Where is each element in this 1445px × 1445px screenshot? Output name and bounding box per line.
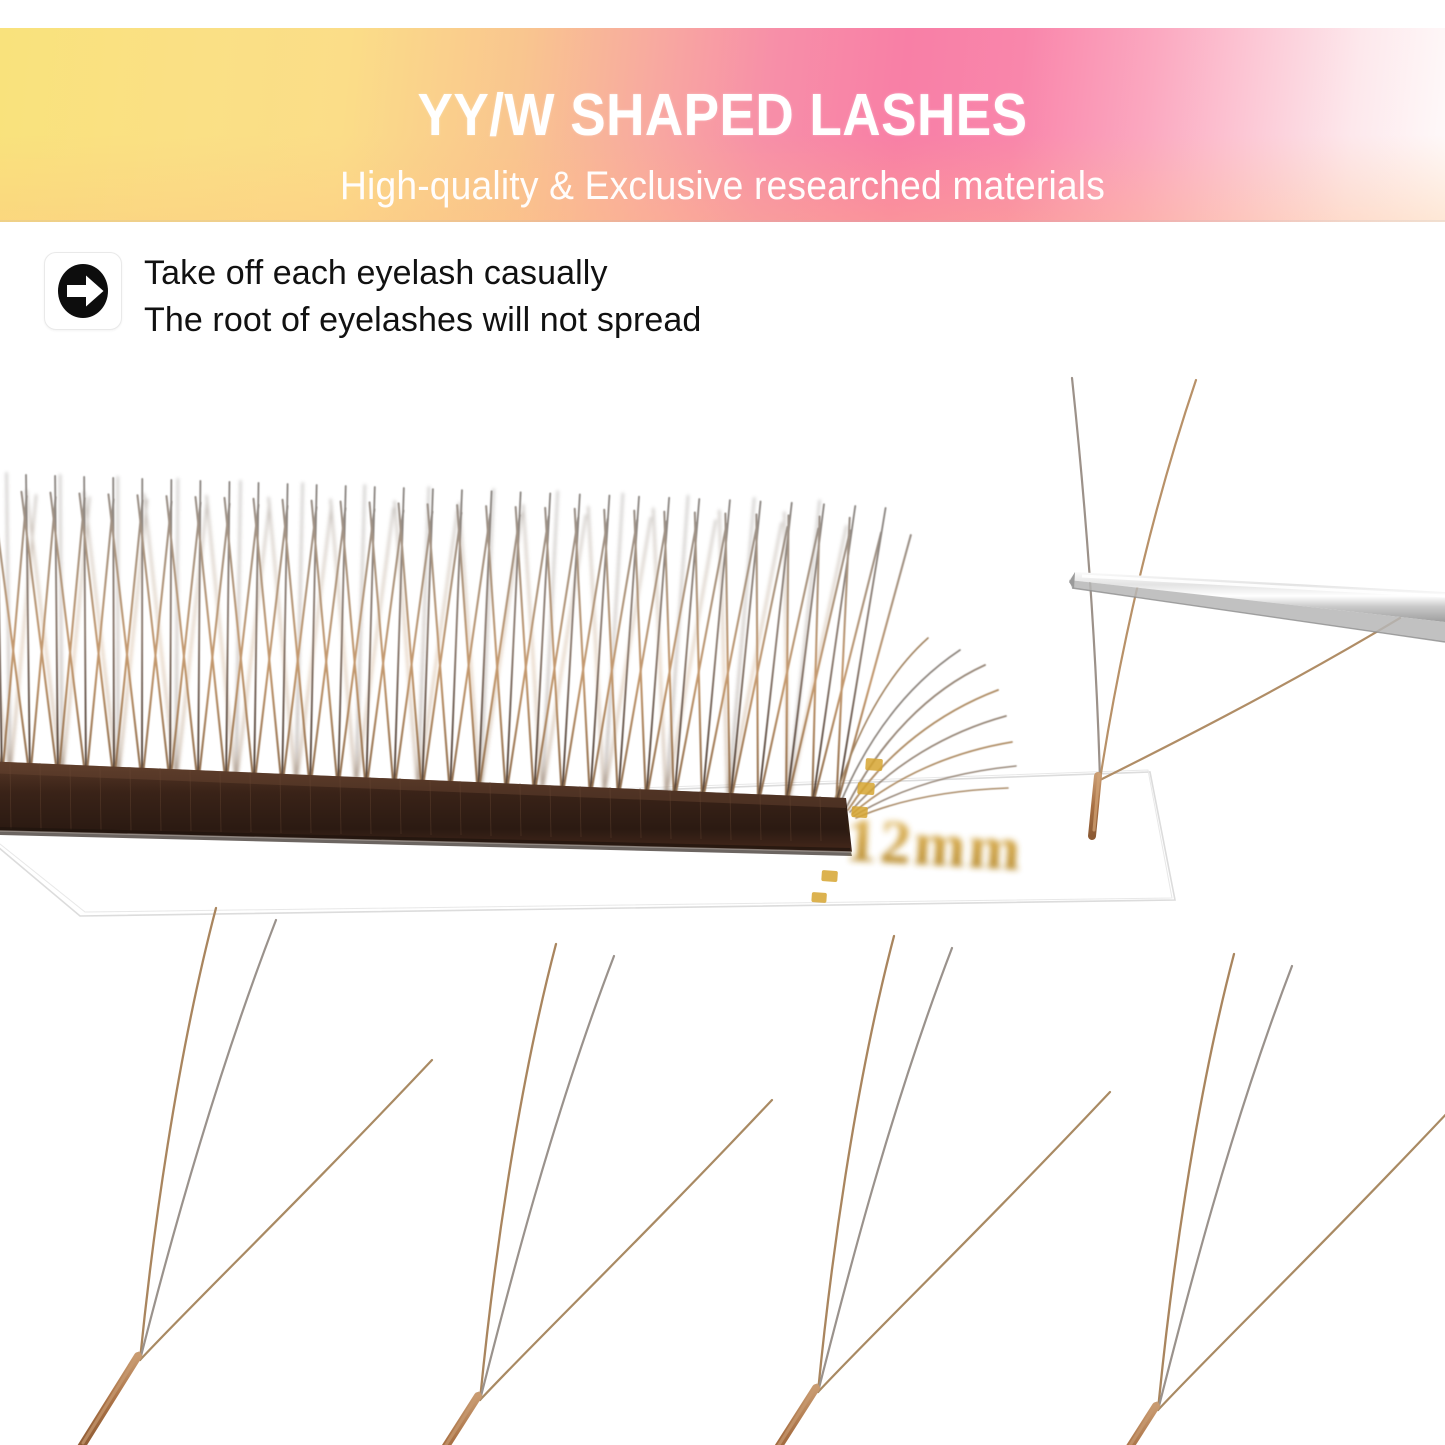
tweezers <box>1069 572 1445 642</box>
header-banner: YY/W SHAPED LASHES High-quality & Exclus… <box>0 28 1445 222</box>
product-photo: 12mm <box>0 360 1445 1445</box>
single-lash-4 <box>1096 954 1445 1445</box>
size-label-text: 12mm <box>844 806 1025 884</box>
instruction-line-1: Take off each eyelash casually <box>144 250 701 297</box>
single-lash-3 <box>756 936 1110 1445</box>
single-lash-2 <box>418 944 772 1445</box>
page-subtitle: High-quality & Exclusive researched mate… <box>51 163 1395 209</box>
lash-strip-fibers <box>0 472 1016 818</box>
instruction-line-2: The root of eyelashes will not spread <box>144 297 701 344</box>
single-lash-row <box>78 908 1445 1445</box>
page-title: YY/W SHAPED LASHES <box>72 84 1373 146</box>
instruction-lines: Take off each eyelash casually The root … <box>144 248 701 344</box>
product-photo-art: 12mm <box>0 360 1445 1445</box>
instruction-block: Take off each eyelash casually The root … <box>44 248 864 352</box>
arrow-right-circle-icon <box>44 252 122 330</box>
single-lash-1 <box>78 908 432 1445</box>
size-label: 12mm <box>844 806 1025 884</box>
